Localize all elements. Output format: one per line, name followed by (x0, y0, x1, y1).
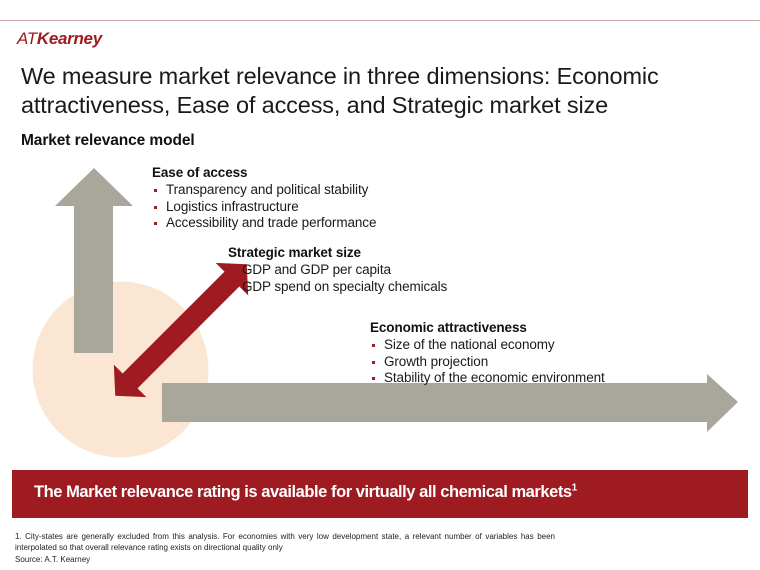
list-item-label: Stability of the economic environment (384, 370, 605, 385)
list-item: Growth projection (370, 354, 605, 371)
footnote-block: 1. City-states are generally excluded fr… (15, 531, 555, 565)
bullet-icon (372, 361, 375, 364)
background-circle (33, 282, 209, 458)
list-item-label: Transparency and political stability (166, 182, 368, 197)
logo-prefix: AT (17, 29, 37, 48)
atkearney-logo: ATKearney (17, 29, 102, 49)
bullet-icon (154, 206, 157, 209)
bullet-icon (372, 344, 375, 347)
annotation-heading: Economic attractiveness (370, 319, 605, 336)
annotation-bullet-list: GDP and GDP per capita GDP spend on spec… (228, 262, 447, 295)
list-item-label: Growth projection (384, 354, 488, 369)
key-message-label: The Market relevance rating is available… (34, 483, 572, 501)
list-item: GDP spend on specialty chemicals (228, 279, 447, 296)
bullet-icon (154, 222, 157, 225)
list-item: Logistics infrastructure (152, 199, 376, 216)
list-item: Transparency and political stability (152, 182, 376, 199)
bullet-icon (372, 377, 375, 380)
page-title: We measure market relevance in three dim… (21, 62, 736, 120)
annotation-economic-attractiveness: Economic attractiveness Size of the nati… (370, 319, 605, 387)
list-item: Stability of the economic environment (370, 370, 605, 387)
bullet-icon (230, 269, 233, 272)
section-subtitle: Market relevance model (21, 132, 195, 150)
list-item-label: Accessibility and trade performance (166, 215, 376, 230)
list-item-label: Size of the national economy (384, 337, 555, 352)
annotation-ease-of-access: Ease of access Transparency and politica… (152, 164, 376, 232)
logo-name: Kearney (37, 29, 102, 48)
key-message-text: The Market relevance rating is available… (34, 483, 577, 502)
list-item: GDP and GDP per capita (228, 262, 447, 279)
annotation-bullet-list: Transparency and political stability Log… (152, 182, 376, 232)
list-item-label: GDP spend on specialty chemicals (242, 279, 447, 294)
footnote-source: Source: A.T. Kearney (15, 554, 555, 565)
key-message-band: The Market relevance rating is available… (12, 470, 748, 518)
annotation-heading: Strategic market size (228, 244, 447, 261)
list-item-label: Logistics infrastructure (166, 199, 299, 214)
list-item: Size of the national economy (370, 337, 605, 354)
annotation-strategic-market-size: Strategic market size GDP and GDP per ca… (228, 244, 447, 295)
annotation-bullet-list: Size of the national economy Growth proj… (370, 337, 605, 387)
market-relevance-model-diagram (0, 150, 760, 470)
footnote-marker: 1 (572, 483, 577, 494)
header-divider (0, 20, 760, 21)
list-item-label: GDP and GDP per capita (242, 262, 391, 277)
footnote-note: 1. City-states are generally excluded fr… (15, 531, 555, 553)
annotation-heading: Ease of access (152, 164, 376, 181)
bullet-icon (154, 189, 157, 192)
bullet-icon (230, 286, 233, 289)
list-item: Accessibility and trade performance (152, 215, 376, 232)
slide: ATKearney We measure market relevance in… (0, 0, 760, 570)
